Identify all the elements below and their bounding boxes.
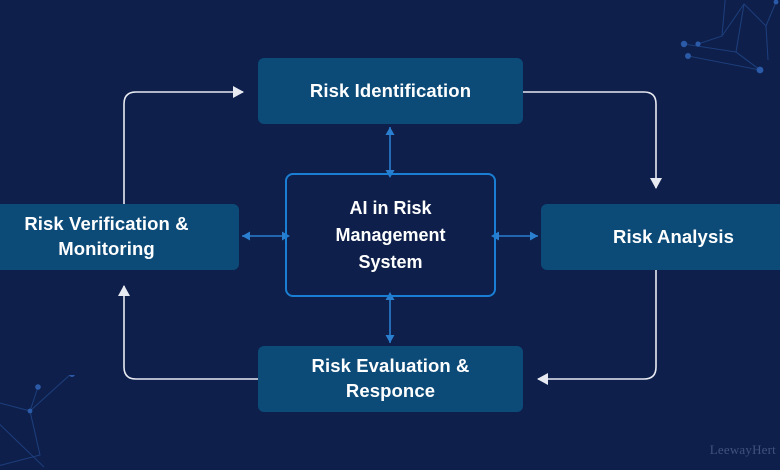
node-risk-identification-label: Risk Identification bbox=[310, 79, 471, 104]
node-center-line3: System bbox=[358, 252, 422, 272]
diagram-canvas: Risk Identification Risk Analysis Risk E… bbox=[0, 0, 780, 470]
flow-arrow-analysis-to-evaluation bbox=[538, 270, 656, 379]
flow-arrow-evaluation-to-verification bbox=[124, 286, 258, 379]
node-risk-verification-monitoring[interactable]: Risk Verification & Monitoring bbox=[0, 204, 239, 270]
node-risk-identification[interactable]: Risk Identification bbox=[258, 58, 523, 124]
node-risk-analysis-label: Risk Analysis bbox=[613, 225, 734, 250]
node-risk-evaluation-response-label: Risk Evaluation & Responce bbox=[312, 354, 470, 404]
node-ai-risk-management-system[interactable]: AI in Risk Management System bbox=[285, 173, 496, 297]
node-risk-evaluation-line1: Risk Evaluation & bbox=[312, 355, 470, 376]
node-risk-evaluation-line2: Responce bbox=[346, 380, 435, 401]
node-risk-verification-line1: Risk Verification & bbox=[24, 213, 188, 234]
node-center-line2: Management bbox=[335, 225, 445, 245]
node-risk-verification-line2: Monitoring bbox=[58, 238, 155, 259]
watermark-leewayhertz: LeewayHert bbox=[710, 442, 776, 458]
flow-arrow-identification-to-analysis bbox=[523, 92, 656, 188]
node-center-line1: AI in Risk bbox=[349, 198, 431, 218]
node-risk-analysis[interactable]: Risk Analysis bbox=[541, 204, 780, 270]
node-center-label: AI in Risk Management System bbox=[335, 195, 445, 276]
node-risk-verification-monitoring-label: Risk Verification & Monitoring bbox=[24, 212, 188, 262]
node-risk-evaluation-response[interactable]: Risk Evaluation & Responce bbox=[258, 346, 523, 412]
flow-arrow-verification-to-identification bbox=[124, 92, 243, 204]
